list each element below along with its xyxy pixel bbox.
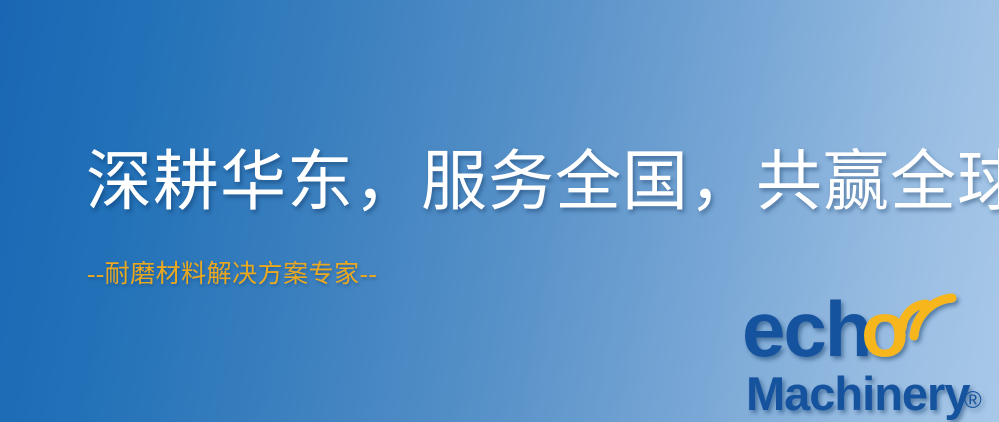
banner-subtitle: --耐磨材料解决方案专家-- xyxy=(87,262,377,287)
banner-headline: 深耕华东，服务全国，共赢全球 xyxy=(86,150,999,216)
logo-text-machinery: Machinery xyxy=(746,367,970,420)
logo-text-ech: ech xyxy=(742,285,870,373)
echo-machinery-logo: ech o Machinery ® xyxy=(742,292,994,420)
signal-arcs-icon xyxy=(902,298,952,336)
promo-banner: 深耕华东，服务全国，共赢全球 --耐磨材料解决方案专家-- ech o xyxy=(0,0,999,422)
registered-trademark-icon: ® xyxy=(964,387,982,414)
